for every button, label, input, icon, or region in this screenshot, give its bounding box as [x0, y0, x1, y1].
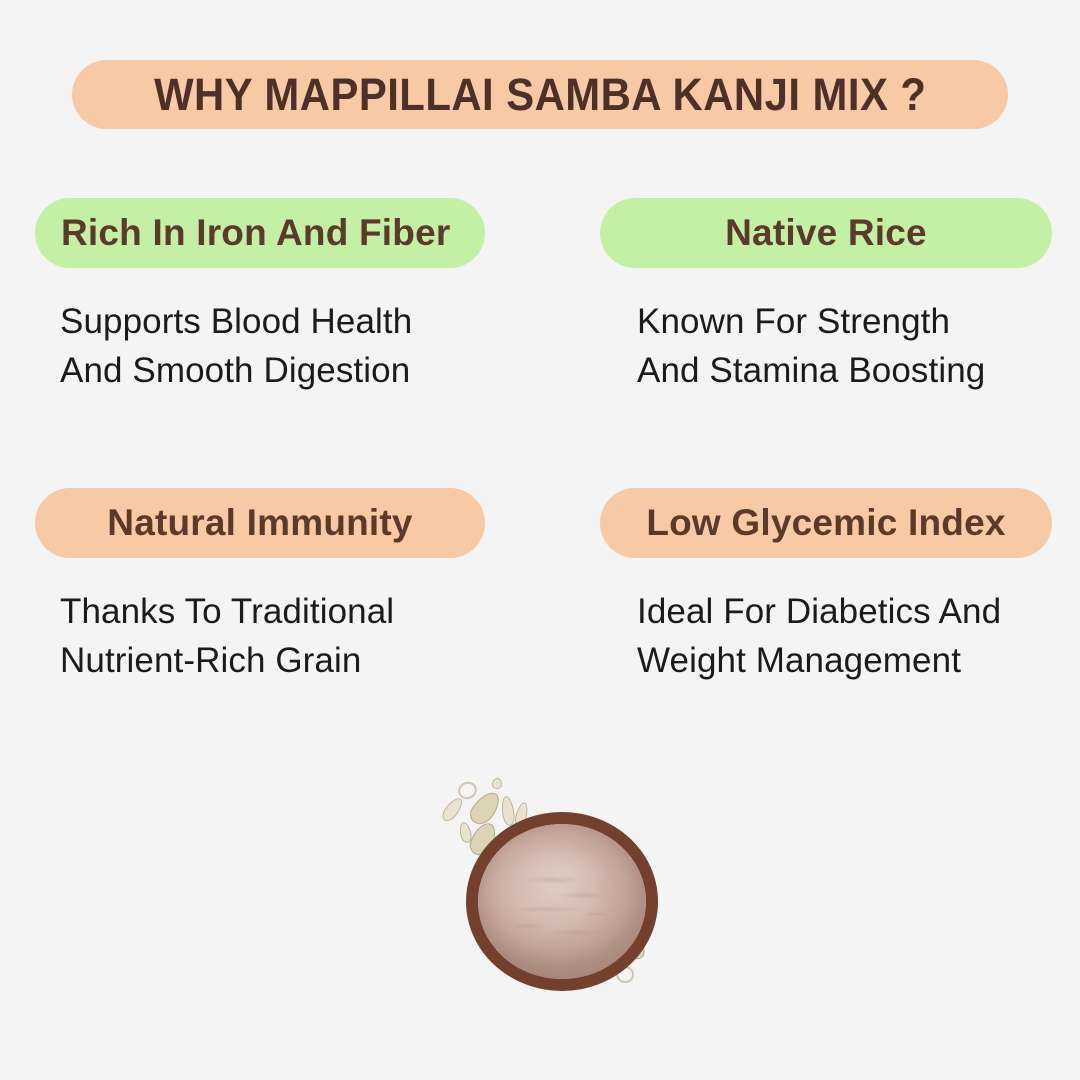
feature-card-low-glycemic-index: Low Glycemic Index Ideal For Diabetics A…	[600, 488, 1052, 685]
rice-grain-icon	[455, 779, 479, 802]
feature-pill-natural-immunity: Natural Immunity	[35, 488, 485, 558]
feature-body-native-rice: Known For Strength And Stamina Boosting	[600, 297, 1052, 395]
bowl-rim-shading	[478, 824, 646, 979]
wheat-husk-icon	[466, 787, 504, 829]
feature-body-low-glycemic-index: Ideal For Diabetics And Weight Managemen…	[600, 587, 1052, 685]
feature-body-line: Supports Blood Health	[60, 297, 485, 346]
product-photo: Wooden bowl filled with pinkish-beige ka…	[430, 760, 686, 1010]
feature-body-line: Ideal For Diabetics And	[637, 587, 1052, 636]
header-banner: WHY MAPPILLAI SAMBA KANJI MIX ?	[72, 60, 1008, 129]
rice-grain-icon	[491, 777, 503, 790]
feature-title-native-rice: Native Rice	[725, 212, 927, 254]
feature-title-rich-in-iron-and-fiber: Rich In Iron And Fiber	[61, 212, 450, 254]
feature-title-low-glycemic-index: Low Glycemic Index	[646, 502, 1005, 544]
feature-body-line: Thanks To Traditional	[60, 587, 485, 636]
feature-card-natural-immunity: Natural Immunity Thanks To Traditional N…	[35, 488, 485, 685]
feature-title-natural-immunity: Natural Immunity	[107, 502, 412, 544]
rice-grain-icon	[500, 795, 516, 826]
feature-pill-native-rice: Native Rice	[600, 198, 1052, 268]
feature-pill-low-glycemic-index: Low Glycemic Index	[600, 488, 1052, 558]
wheat-husk-icon	[467, 819, 499, 858]
feature-body-line: And Smooth Digestion	[60, 346, 485, 395]
page-title: WHY MAPPILLAI SAMBA KANJI MIX ?	[154, 69, 926, 121]
feature-body-line: Known For Strength	[637, 297, 1052, 346]
feature-body-line: And Stamina Boosting	[637, 346, 1052, 395]
feature-card-native-rice: Native Rice Known For Strength And Stami…	[600, 198, 1052, 395]
rice-grain-icon	[614, 963, 637, 985]
feature-body-natural-immunity: Thanks To Traditional Nutrient-Rich Grai…	[35, 587, 485, 685]
wooden-bowl	[478, 824, 646, 979]
rice-grain-icon	[513, 801, 530, 829]
rice-grain-icon	[439, 795, 466, 824]
feature-body-line: Nutrient-Rich Grain	[60, 636, 485, 685]
product-photo-caption: Wooden bowl filled with pinkish-beige ka…	[430, 760, 431, 761]
feature-body-line: Weight Management	[637, 636, 1052, 685]
feature-body-rich-in-iron-and-fiber: Supports Blood Health And Smooth Digesti…	[35, 297, 485, 395]
feature-card-rich-in-iron-and-fiber: Rich In Iron And Fiber Supports Blood He…	[35, 198, 485, 395]
rice-grain-icon	[458, 821, 473, 844]
infographic-canvas: WHY MAPPILLAI SAMBA KANJI MIX ? Rich In …	[0, 0, 1080, 1080]
feature-pill-rich-in-iron-and-fiber: Rich In Iron And Fiber	[35, 198, 485, 268]
